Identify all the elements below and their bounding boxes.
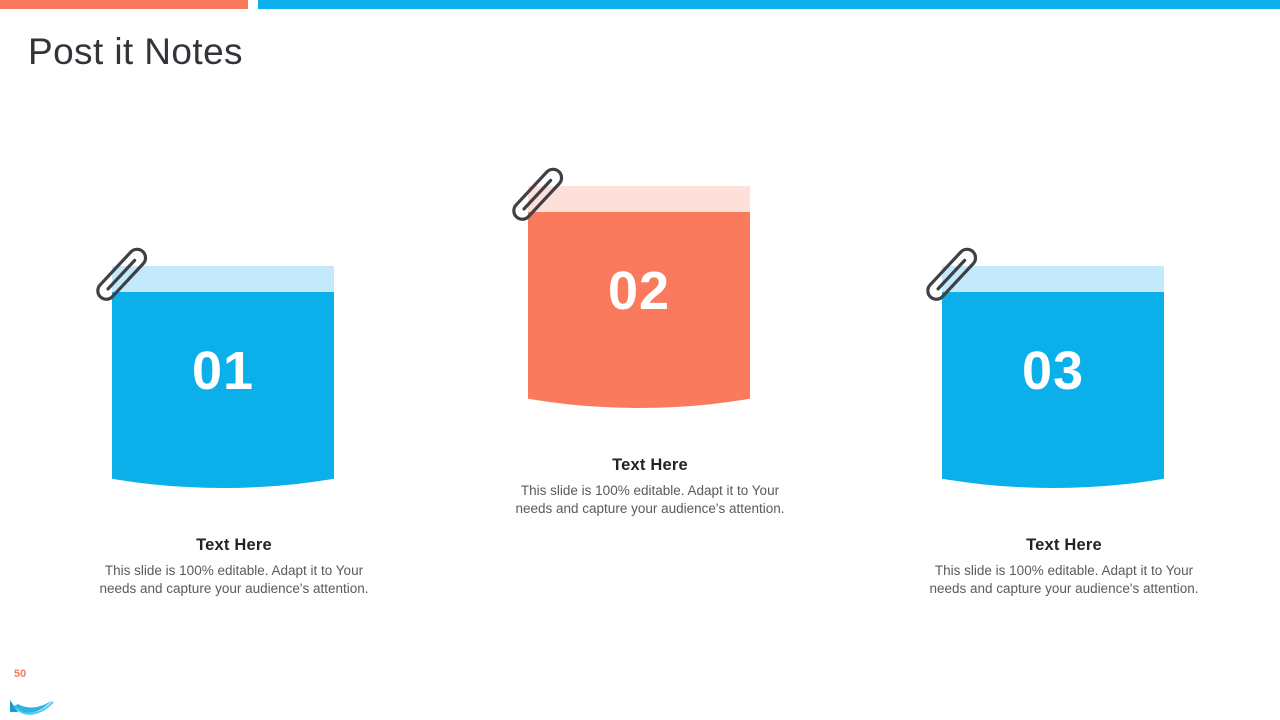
caption-title: Text Here	[95, 535, 373, 555]
note-card-group-1[interactable]: 01 Text Here This slide is 100% editable…	[112, 266, 334, 488]
note-card-03[interactable]: 03	[942, 266, 1164, 488]
note-number-label: 02	[528, 264, 750, 318]
paperclip-icon	[83, 237, 160, 314]
caption-title: Text Here	[925, 535, 1203, 555]
paperclip-icon	[913, 237, 990, 314]
note-caption-2: Text Here This slide is 100% editable. A…	[511, 455, 789, 517]
paperclip-icon	[499, 157, 576, 234]
note-card-group-2[interactable]: 02 Text Here This slide is 100% editable…	[528, 186, 750, 408]
page-title: Post it Notes	[28, 27, 243, 77]
note-caption-3: Text Here This slide is 100% editable. A…	[925, 535, 1203, 597]
note-card-02[interactable]: 02	[528, 186, 750, 408]
caption-title: Text Here	[511, 455, 789, 475]
caption-body: This slide is 100% editable. Adapt it to…	[95, 562, 373, 597]
page-number: 50	[14, 668, 26, 680]
note-caption-1: Text Here This slide is 100% editable. A…	[95, 535, 373, 597]
caption-body: This slide is 100% editable. Adapt it to…	[925, 562, 1203, 597]
hand-swoosh-logo	[8, 686, 60, 720]
note-number-label: 03	[942, 344, 1164, 398]
top-accent-bar-left	[0, 0, 248, 9]
note-card-01[interactable]: 01	[112, 266, 334, 488]
top-accent-bar-right	[258, 0, 1280, 9]
caption-body: This slide is 100% editable. Adapt it to…	[511, 482, 789, 517]
note-number-label: 01	[112, 344, 334, 398]
note-card-group-3[interactable]: 03 Text Here This slide is 100% editable…	[942, 266, 1164, 488]
